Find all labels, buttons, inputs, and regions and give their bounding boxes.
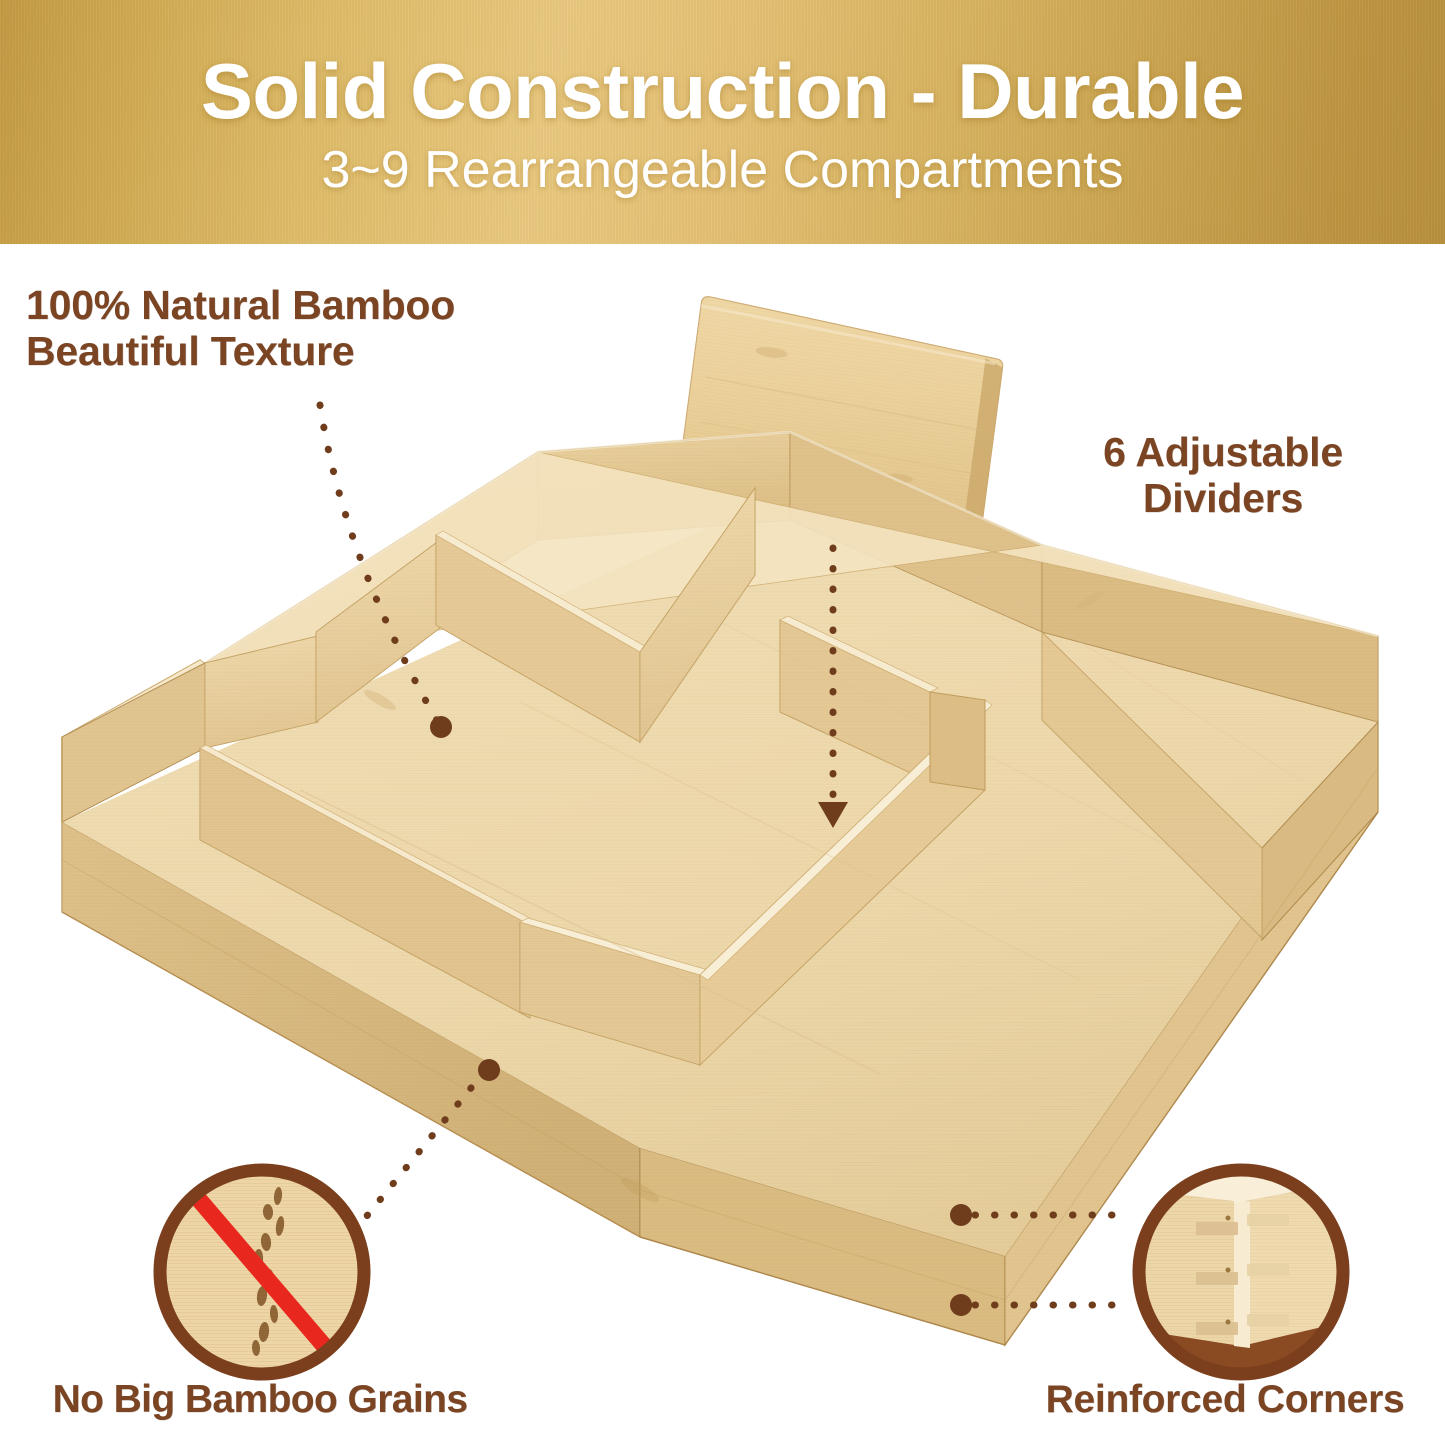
- divider-lower-mid-horizontal: [520, 918, 708, 1065]
- inset-ring-border: [160, 1170, 364, 1374]
- prohibition-slash-icon: [196, 1196, 326, 1348]
- header-banner: Solid Construction - Durable 3~9 Rearran…: [0, 0, 1445, 244]
- connector-natural-bamboo: [320, 405, 452, 738]
- bamboo-organizer-tray: [62, 432, 1378, 1345]
- divider-front-left: [205, 540, 440, 840]
- connector-endpoint-dot: [950, 1204, 972, 1226]
- connector-no-big-grains: [366, 1059, 500, 1217]
- floating-divider-plank: [677, 296, 1007, 527]
- callout-label-adjustable-dividers: 6 Adjustable Dividers: [1028, 430, 1418, 522]
- callout-label-no-big-bamboo-grains: No Big Bamboo Grains: [30, 1378, 490, 1422]
- infographic-page: Solid Construction - Durable 3~9 Rearran…: [0, 0, 1445, 1430]
- connector-endpoint-dot: [950, 1294, 972, 1316]
- divider-mid-left-horizontal: [200, 745, 537, 1018]
- connector-endpoint-dot: [478, 1059, 500, 1081]
- divider-right-front-diagonal: [930, 692, 1262, 938]
- divider-center-left-vertical: [436, 531, 648, 742]
- inset-ring-border: [1139, 1170, 1343, 1374]
- connector-endpoint-dot: [430, 716, 452, 738]
- callout-label-natural-bamboo: 100% Natural Bamboo Beautiful Texture: [26, 283, 455, 375]
- arrowhead-down-icon: [818, 802, 848, 828]
- divider-center-vertical: [640, 488, 755, 742]
- connector-adjustable-dividers: [818, 548, 848, 828]
- callout-label-reinforced-corners: Reinforced Corners: [1020, 1378, 1430, 1422]
- page-subtitle: 3~9 Rearrangeable Compartments: [321, 143, 1123, 198]
- divider-mid-right-vertical: [780, 616, 938, 782]
- divider-right-horizontal: [700, 700, 992, 1065]
- inset-reinforced-corner: [1139, 1170, 1343, 1374]
- inset-no-big-bamboo-grains: [160, 1170, 364, 1374]
- page-title: Solid Construction - Durable: [201, 52, 1244, 132]
- connector-reinforced-corners: [950, 1204, 1128, 1316]
- divider-left-back: [205, 636, 318, 748]
